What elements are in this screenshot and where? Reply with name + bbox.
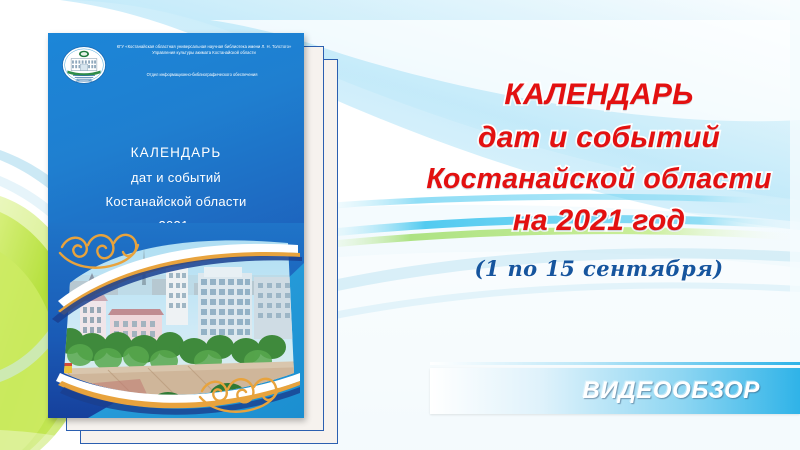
cover-title-line-2: дат и событий: [48, 166, 304, 190]
headline-line-2: дат и событий: [404, 117, 794, 160]
headline-line-4: на 2021 год: [404, 200, 794, 243]
slide-canvas: КГУ «Костанайская областная универсальна…: [0, 0, 800, 450]
headline-line-1: КАЛЕНДАРЬ: [404, 74, 794, 117]
cover-department-text: Отдел информационно-библиографического о…: [104, 72, 300, 78]
cover-title-line-1: КАЛЕНДАРЬ: [48, 141, 304, 166]
cover-organization-text: КГУ «Костанайская областная универсальна…: [112, 44, 296, 57]
book-cover: КГУ «Костанайская областная универсальна…: [48, 33, 304, 418]
cover-artwork: [48, 223, 304, 418]
slide-headline: КАЛЕНДАРЬ дат и событий Костанайской обл…: [404, 74, 794, 281]
headline-subtitle: (1 по 15 сентября): [404, 256, 794, 281]
book-mockup: КГУ «Костанайская областная универсальна…: [48, 33, 348, 433]
headline-line-3: Костанайской области: [404, 159, 794, 199]
cover-header: КГУ «Костанайская областная универсальна…: [48, 33, 304, 125]
video-review-banner[interactable]: ВИДЕООБЗОР: [430, 368, 800, 414]
cover-title-line-3: Костанайской области: [48, 190, 304, 214]
library-emblem-icon: [61, 42, 107, 88]
video-review-label: ВИДЕООБЗОР: [583, 377, 760, 405]
